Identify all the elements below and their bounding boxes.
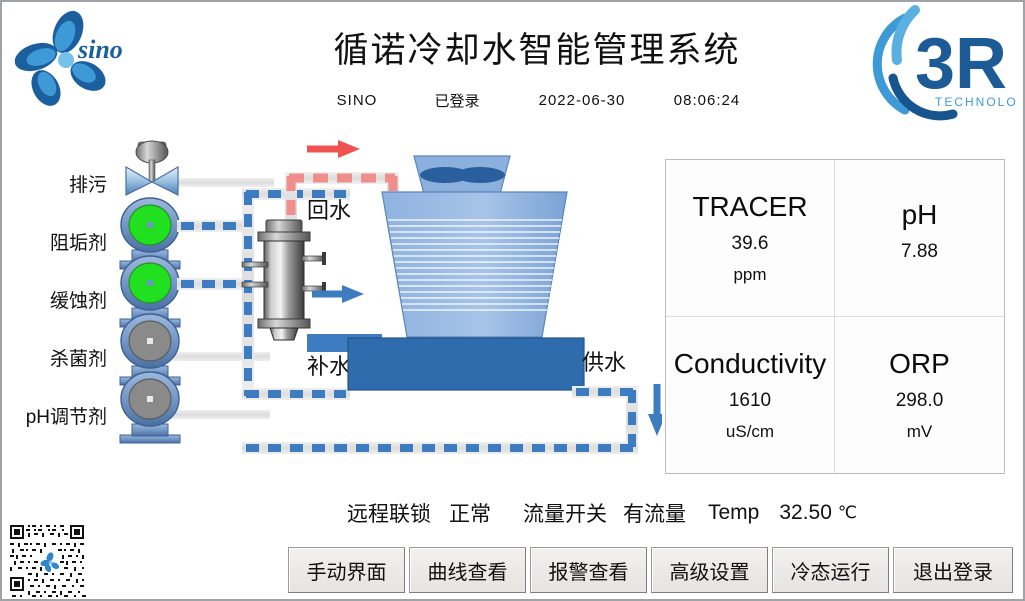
measurement-ph: pH 7.88 (835, 160, 1004, 317)
measurement-tracer-name: TRACER (692, 193, 807, 221)
vendor-logo-text: 3R (915, 24, 1007, 104)
return-water-arrow (307, 140, 360, 158)
measurement-conductivity-value: 1610 (729, 391, 771, 410)
measurement-tracer-value: 39.6 (732, 234, 769, 253)
page-title: 循诺冷却水智能管理系统 (257, 22, 817, 73)
measurement-conductivity-name: Conductivity (674, 350, 827, 378)
process-schematic: 排污 阻垢剂 缓蚀剂 杀菌剂 pH调节剂 (2, 122, 662, 492)
label-return-water: 回水 (307, 198, 351, 223)
vendor-logo: 3R TECHNOLOGY (857, 4, 1017, 124)
button-bar: 手动界面 曲线查看 报警查看 高级设置 冷态运行 退出登录 (288, 547, 1025, 601)
schematic-label-biocide: 杀菌剂 (12, 344, 107, 371)
label-supply-water: 供水 (582, 350, 626, 375)
measurement-tracer-unit: ppm (733, 266, 766, 283)
heat-exchanger-icon (242, 220, 326, 340)
logout-button[interactable]: 退出登录 (893, 547, 1013, 593)
schematic-label-antiscalant: 阻垢剂 (12, 228, 107, 255)
measurement-orp-value: 298.0 (896, 391, 944, 410)
alarm-view-button[interactable]: 报警查看 (530, 547, 647, 593)
application-window: sino 循诺冷却水智能管理系统 SINO 已登录 2022-06-30 08:… (0, 0, 1025, 601)
advanced-settings-button[interactable]: 高级设置 (651, 547, 768, 593)
measurement-panel: TRACER 39.6 ppm pH 7.88 Conductivity 161… (665, 159, 1005, 474)
schematic-label-corrosion-inhibitor: 缓蚀剂 (12, 286, 107, 313)
schematic-label-blowdown: 排污 (12, 170, 107, 197)
supply-water-arrow (648, 384, 662, 436)
schematic-label-ph-adjuster: pH调节剂 (2, 402, 107, 429)
temperature-unit: ℃ (838, 503, 857, 523)
active-chemical-lines (177, 220, 245, 290)
curve-view-button[interactable]: 曲线查看 (409, 547, 526, 593)
pump-ph-adjuster[interactable] (120, 372, 180, 443)
qr-code (8, 523, 94, 601)
label-makeup-water: 补水 (307, 354, 351, 379)
measurement-orp-name: ORP (889, 350, 950, 378)
tower-fan-blade-right (455, 167, 505, 183)
flow-switch-label: 流量开关 (523, 498, 607, 528)
header-status-line: SINO 已登录 2022-06-30 08:06:24 (257, 90, 817, 111)
vendor-logo-subtext: TECHNOLOGY (935, 95, 1017, 109)
measurement-orp-unit: mV (907, 423, 933, 440)
measurement-conductivity: Conductivity 1610 uS/cm (666, 317, 835, 474)
remote-interlock-value: 正常 (449, 498, 491, 528)
temperature-label: Temp (708, 501, 759, 525)
remote-interlock-label: 远程联锁 (347, 498, 431, 528)
tower-body (382, 192, 567, 337)
sino-logo: sino (10, 10, 160, 110)
current-time: 08:06:24 (652, 92, 762, 109)
measurement-ph-name: pH (902, 201, 938, 229)
sino-wordmark: sino (77, 35, 123, 64)
cooling-tower (348, 156, 584, 390)
logged-user: SINO (312, 92, 402, 109)
manual-interface-button[interactable]: 手动界面 (288, 547, 405, 593)
login-state: 已登录 (402, 90, 512, 111)
measurement-ph-value: 7.88 (901, 242, 938, 261)
cold-start-run-button[interactable]: 冷态运行 (772, 547, 889, 593)
measurement-tracer: TRACER 39.6 ppm (666, 160, 835, 317)
measurement-conductivity-unit: uS/cm (726, 423, 774, 440)
temperature-value: 32.50 (779, 501, 832, 525)
flow-switch-value: 有流量 (623, 498, 686, 528)
current-date: 2022-06-30 (512, 92, 652, 109)
bottom-status-bar: 远程联锁 正常 流量开关 有流量 Temp 32.50 ℃ (347, 497, 1017, 529)
measurement-orp: ORP 298.0 mV (835, 317, 1004, 474)
tower-basin (348, 338, 584, 390)
blowdown-valve-icon (126, 141, 178, 195)
